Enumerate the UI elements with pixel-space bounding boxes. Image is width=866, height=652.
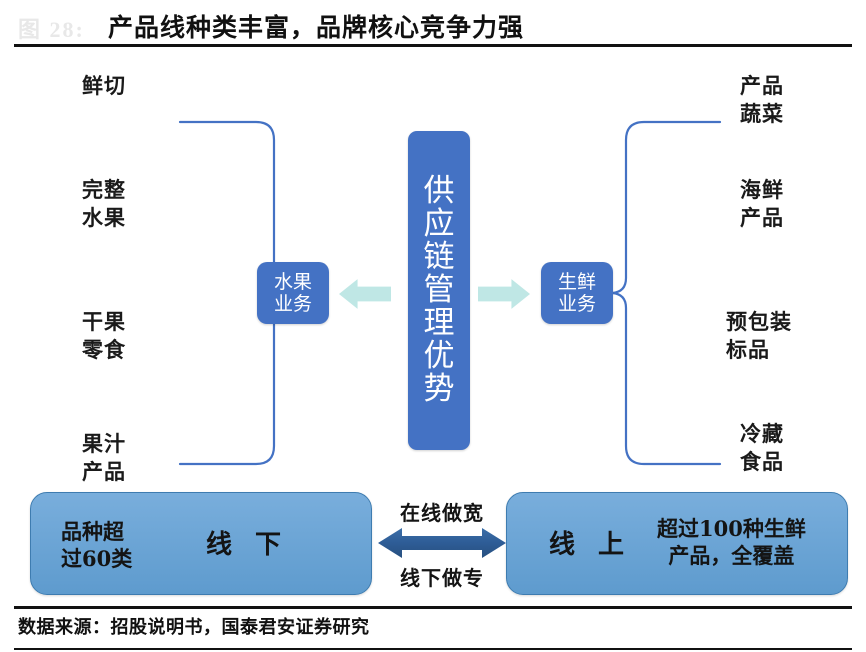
fruit-business-label: 水果 业务	[274, 271, 312, 316]
page-title: 产品线种类丰富，品牌核心竞争力强	[108, 8, 524, 44]
online-channel-content: 线 上 超过100种生鲜 产品，全覆盖	[507, 493, 847, 594]
source-note: 数据来源：招股说明书，国泰君安证券研究	[18, 613, 370, 639]
right-arrow-icon	[478, 278, 530, 310]
online-channel-title: 线 上	[549, 524, 631, 561]
footer-divider-top	[14, 606, 852, 609]
figure-number: 图 28:	[18, 12, 85, 44]
footer-divider-bottom	[14, 648, 852, 650]
offline-channel-box[interactable]: 品种超 过60类 线 下	[30, 492, 372, 595]
fresh-business-label: 生鲜 业务	[558, 271, 596, 316]
left-category-1: 完整 水果	[82, 176, 126, 231]
double-arrow-icon	[378, 527, 506, 559]
right-category-2: 预包装 标品	[726, 308, 792, 363]
fresh-business-box[interactable]: 生鲜 业务	[541, 262, 613, 324]
channel-arrow-caption-bottom: 线下做专	[372, 562, 512, 591]
offline-channel-content: 品种超 过60类 线 下	[31, 493, 371, 594]
right-category-0: 产品 蔬菜	[740, 72, 784, 127]
channel-arrow-caption-top: 在线做宽	[372, 497, 512, 526]
offline-channel-title: 线 下	[206, 524, 288, 561]
title-divider	[14, 44, 852, 47]
left-category-3: 果汁 产品	[82, 430, 126, 485]
left-category-2: 干果 零食	[82, 308, 126, 363]
online-channel-detail: 超过100种生鲜 产品，全覆盖	[657, 515, 806, 570]
left-category-0: 鲜切	[82, 72, 126, 100]
title-zone: 图 28: 产品线种类丰富，品牌核心竞争力强	[0, 0, 866, 48]
right-category-3: 冷藏 食品	[740, 420, 784, 475]
offline-channel-detail: 品种超 过60类	[61, 518, 132, 573]
supply-chain-label: 供 应 链 管 理 优 势	[424, 175, 455, 405]
diagram-page: 图 28: 产品线种类丰富，品牌核心竞争力强 鲜切 完整 水果 干果 零食 果汁…	[0, 0, 866, 652]
supply-chain-box[interactable]: 供 应 链 管 理 优 势	[408, 131, 470, 450]
fruit-business-box[interactable]: 水果 业务	[257, 262, 329, 324]
left-arrow-icon	[339, 278, 391, 310]
online-channel-box[interactable]: 线 上 超过100种生鲜 产品，全覆盖	[506, 492, 848, 595]
right-category-1: 海鲜 产品	[740, 176, 784, 231]
right-brace	[610, 118, 722, 468]
